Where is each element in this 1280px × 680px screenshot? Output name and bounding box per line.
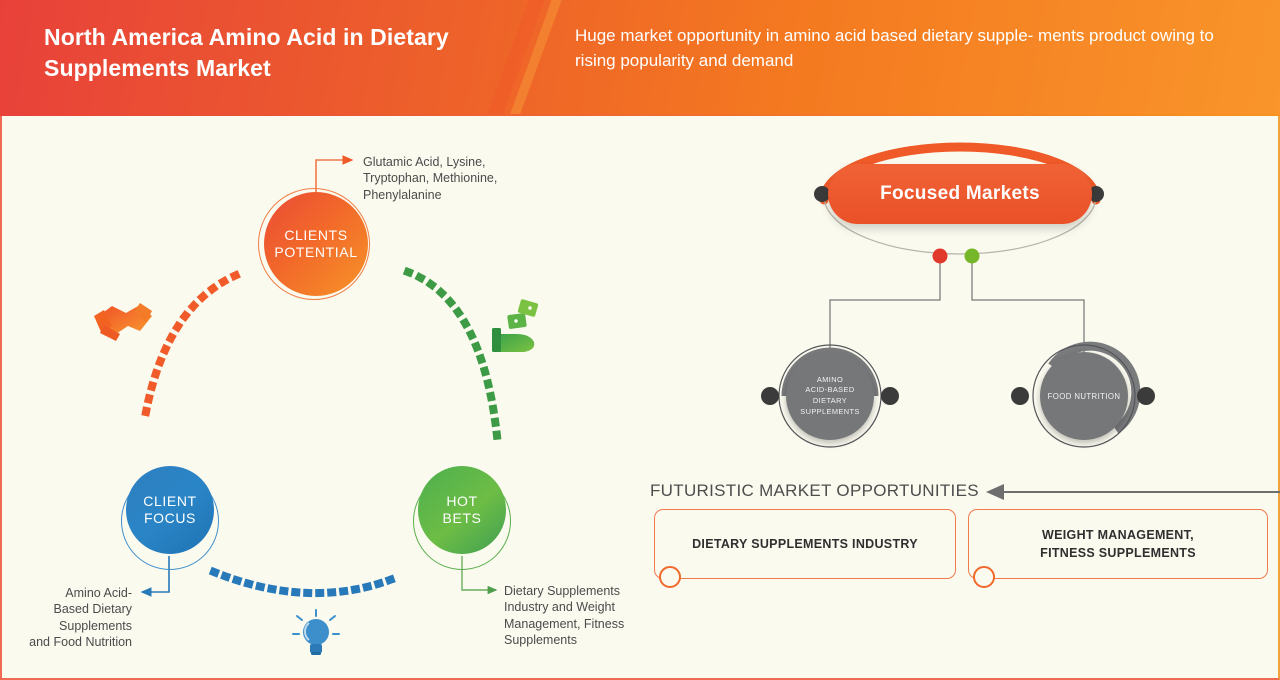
opportunity-box-1-dot [659, 566, 681, 588]
infographic-page: North America Amino Acid in Dietary Supp… [0, 0, 1280, 680]
bubble-client-focus[interactable]: CLIENT FOCUS [126, 466, 214, 554]
market-circle-food-nutrition-label: FOOD NUTRITION [1048, 392, 1121, 401]
bubble-hot-bets[interactable]: HOT BETS [418, 466, 506, 554]
bubble-hot-bets-label: HOT BETS [443, 493, 482, 528]
focused-markets-pill[interactable]: Focused Markets [828, 164, 1092, 224]
bubble-client-focus-label: CLIENT FOCUS [143, 493, 196, 528]
bubble-clients-potential-label: CLIENTS POTENTIAL [274, 227, 357, 262]
market-circle-food-nutrition[interactable]: FOOD NUTRITION [1040, 352, 1128, 440]
focused-markets-label: Focused Markets [880, 183, 1040, 205]
callout-clients-potential: Glutamic Acid, Lysine, Tryptophan, Methi… [363, 154, 563, 203]
opportunity-box-2-label: WEIGHT MANAGEMENT, FITNESS SUPPLEMENTS [1040, 526, 1196, 562]
callout-hot-bets: Dietary Supplements Industry and Weight … [504, 583, 654, 648]
opportunity-box-weight-management[interactable]: WEIGHT MANAGEMENT, FITNESS SUPPLEMENTS [968, 509, 1268, 579]
opportunity-box-dietary-supplements-industry[interactable]: DIETARY SUPPLEMENTS INDUSTRY [654, 509, 956, 579]
header-subtitle: Huge market opportunity in amino acid ba… [575, 24, 1225, 73]
market-circle-amino-acid-label: AMINO ACID-BASED DIETARY SUPPLEMENTS [800, 375, 859, 418]
market-circle-amino-acid[interactable]: AMINO ACID-BASED DIETARY SUPPLEMENTS [786, 352, 874, 440]
futuristic-opportunities-title: FUTURISTIC MARKET OPPORTUNITIES [650, 481, 979, 501]
opportunity-box-2-dot [973, 566, 995, 588]
opportunity-box-1-label: DIETARY SUPPLEMENTS INDUSTRY [692, 535, 918, 553]
callout-client-focus: Amino Acid- Based Dietary Supplements an… [20, 585, 132, 650]
header-banner: North America Amino Acid in Dietary Supp… [0, 0, 1280, 115]
bubble-clients-potential[interactable]: CLIENTS POTENTIAL [264, 192, 368, 296]
page-title: North America Amino Acid in Dietary Supp… [44, 22, 494, 83]
